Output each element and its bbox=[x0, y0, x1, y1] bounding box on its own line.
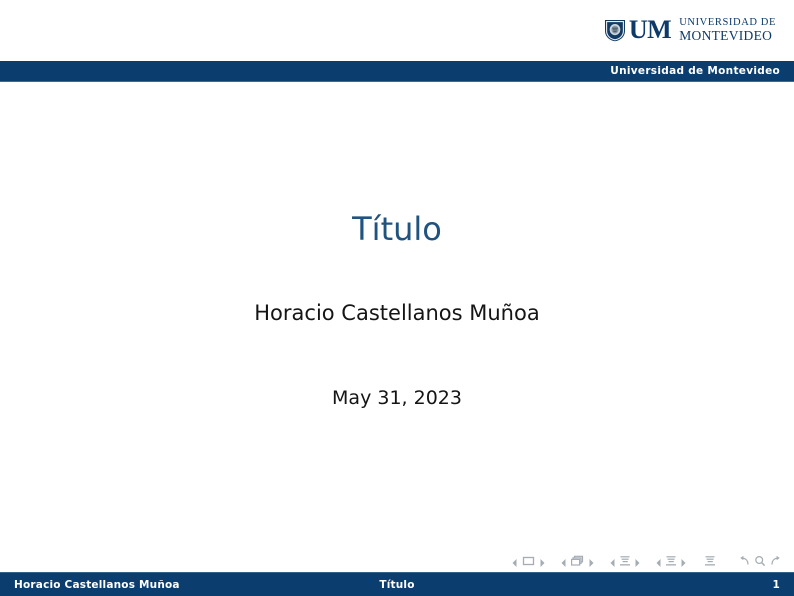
footer-bar: Horacio Castellanos Muñoa Título 1 bbox=[0, 572, 794, 596]
beamer-navigation-symbols[interactable] bbox=[510, 548, 784, 572]
back-arrow-icon[interactable] bbox=[737, 553, 751, 567]
slide-prev-icon[interactable] bbox=[510, 554, 519, 566]
header-institution-label: Universidad de Montevideo bbox=[610, 65, 780, 77]
header-bar: Universidad de Montevideo bbox=[0, 61, 794, 82]
subsection-prev-icon[interactable] bbox=[608, 554, 617, 566]
university-logo: UM UNIVERSIDAD DE MONTEVIDEO bbox=[604, 17, 776, 43]
subsection-next-icon[interactable] bbox=[633, 554, 642, 566]
presentation-navigation-group[interactable] bbox=[702, 553, 718, 567]
slide-next-icon[interactable] bbox=[538, 554, 547, 566]
footer-page-number: 1 bbox=[772, 579, 780, 591]
presentation-icon[interactable] bbox=[703, 553, 717, 567]
frame-next-icon[interactable] bbox=[587, 554, 596, 566]
subsection-navigation-group[interactable] bbox=[608, 553, 642, 567]
presentation-date: May 31, 2023 bbox=[0, 386, 794, 410]
section-icon[interactable] bbox=[664, 553, 678, 567]
presentation-author: Horacio Castellanos Muñoa bbox=[0, 300, 794, 326]
forward-arrow-icon[interactable] bbox=[769, 553, 783, 567]
frame-prev-icon[interactable] bbox=[559, 554, 568, 566]
section-next-icon[interactable] bbox=[679, 554, 688, 566]
title-block: Título bbox=[0, 210, 794, 248]
slide-icon[interactable] bbox=[521, 553, 536, 567]
university-wordmark-line2: MONTEVIDEO bbox=[679, 29, 776, 43]
section-prev-icon[interactable] bbox=[654, 554, 663, 566]
date-block: May 31, 2023 bbox=[0, 386, 794, 410]
frames-icon[interactable] bbox=[570, 553, 585, 567]
section-navigation-group[interactable] bbox=[654, 553, 688, 567]
university-monogram: UM bbox=[629, 17, 671, 43]
presentation-title: Título bbox=[0, 210, 794, 248]
author-block: Horacio Castellanos Muñoa bbox=[0, 300, 794, 326]
beamer-slide: UM UNIVERSIDAD DE MONTEVIDEO Universidad… bbox=[0, 0, 794, 596]
frame-navigation-group[interactable] bbox=[559, 553, 596, 567]
history-navigation-group[interactable] bbox=[736, 553, 784, 567]
search-icon[interactable] bbox=[753, 553, 767, 567]
slide-body: Título Horacio Castellanos Muñoa May 31,… bbox=[0, 82, 794, 572]
university-shield-icon bbox=[604, 19, 626, 42]
logo-header-band: UM UNIVERSIDAD DE MONTEVIDEO bbox=[0, 0, 794, 61]
slide-navigation-group[interactable] bbox=[510, 553, 547, 567]
footer-title: Título bbox=[0, 579, 794, 591]
subsection-icon[interactable] bbox=[618, 553, 632, 567]
university-wordmark: UNIVERSIDAD DE MONTEVIDEO bbox=[679, 17, 776, 43]
